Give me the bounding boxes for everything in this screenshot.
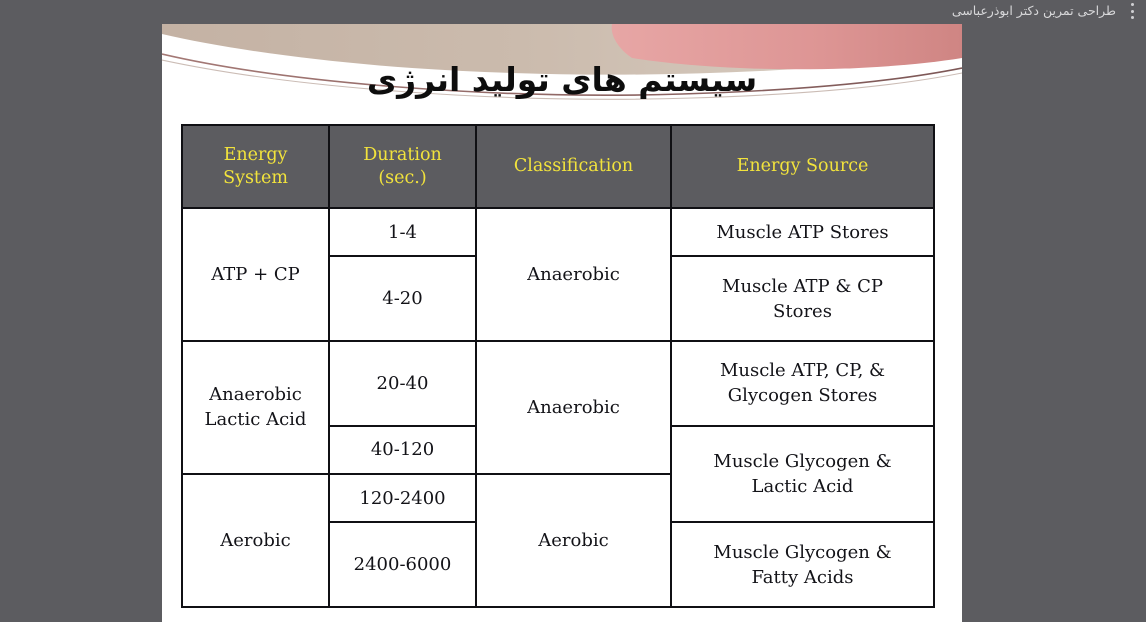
cell-line: Anaerobic xyxy=(209,384,302,405)
cell-classification-anaerobic-1: Anaerobic xyxy=(476,208,671,341)
cell-energy-system-anaerobic-lactic-acid: Anaerobic Lactic Acid xyxy=(182,341,329,474)
kebab-dot xyxy=(1131,16,1134,19)
cell-source-muscle-glycogen-lactic-acid: Muscle Glycogen & Lactic Acid xyxy=(671,426,934,522)
table-header: Energy System Duration (sec.) Classifica… xyxy=(182,125,934,208)
cell-energy-system-aerobic: Aerobic xyxy=(182,474,329,607)
cell-duration-20-40: 20-40 xyxy=(329,341,476,426)
cell-line: Glycogen Stores xyxy=(728,385,878,406)
header-line: Duration xyxy=(363,145,442,165)
cell-line: Muscle Glycogen & xyxy=(713,542,891,563)
header-line: Energy Source xyxy=(737,156,869,176)
table-body: ATP + CP 1-4 Anaerobic Muscle ATP Stores… xyxy=(182,208,934,607)
header-line: System xyxy=(223,168,288,188)
cell-line: Fatty Acids xyxy=(752,567,854,588)
kebab-dot xyxy=(1131,10,1134,13)
presentation-title-label: طراحی تمرین دکتر ابوذرعباسی xyxy=(952,2,1116,20)
header-line: (sec.) xyxy=(378,168,426,188)
header-line: Energy xyxy=(224,145,288,165)
cell-line: Muscle Glycogen & xyxy=(713,451,891,472)
slide-canvas: سیستم های تولید انرژی Energy System Dura… xyxy=(162,24,962,622)
cell-source-muscle-atp-cp-stores: Muscle ATP & CP Stores xyxy=(671,256,934,341)
column-header-classification: Classification xyxy=(476,125,671,208)
cell-energy-system-atp-cp: ATP + CP xyxy=(182,208,329,341)
cell-duration-2400-6000: 2400-6000 xyxy=(329,522,476,607)
cell-duration-40-120: 40-120 xyxy=(329,426,476,474)
cell-classification-aerobic: Aerobic xyxy=(476,474,671,607)
cell-duration-4-20: 4-20 xyxy=(329,256,476,341)
column-header-energy-source: Energy Source xyxy=(671,125,934,208)
energy-systems-table: Energy System Duration (sec.) Classifica… xyxy=(181,124,935,608)
top-bar: طراحی تمرین دکتر ابوذرعباسی xyxy=(0,0,1146,22)
energy-systems-table-wrapper: Energy System Duration (sec.) Classifica… xyxy=(181,124,933,608)
cell-line: Muscle ATP, CP, & xyxy=(720,360,885,381)
table-row: Anaerobic Lactic Acid 20-40 Anaerobic Mu… xyxy=(182,341,934,426)
column-header-energy-system: Energy System xyxy=(182,125,329,208)
table-row: ATP + CP 1-4 Anaerobic Muscle ATP Stores xyxy=(182,208,934,256)
cell-line: Lactic Acid xyxy=(205,409,307,430)
column-header-duration: Duration (sec.) xyxy=(329,125,476,208)
table-header-row: Energy System Duration (sec.) Classifica… xyxy=(182,125,934,208)
cell-line: Stores xyxy=(773,301,832,322)
cell-source-muscle-glycogen-fatty-acids: Muscle Glycogen & Fatty Acids xyxy=(671,522,934,607)
cell-source-muscle-atp-cp-glycogen-stores: Muscle ATP, CP, & Glycogen Stores xyxy=(671,341,934,426)
presentation-viewer: طراحی تمرین دکتر ابوذرعباسی xyxy=(0,0,1146,622)
kebab-dot xyxy=(1131,3,1134,6)
slide-title: سیستم های تولید انرژی xyxy=(162,58,962,102)
cell-duration-1-4: 1-4 xyxy=(329,208,476,256)
cell-source-muscle-atp-stores: Muscle ATP Stores xyxy=(671,208,934,256)
header-line: Classification xyxy=(514,156,633,176)
cell-classification-anaerobic-2: Anaerobic xyxy=(476,341,671,474)
kebab-menu-icon[interactable] xyxy=(1130,3,1134,19)
cell-line: Muscle ATP & CP xyxy=(722,276,883,297)
cell-line: Lactic Acid xyxy=(752,476,854,497)
cell-duration-120-2400: 120-2400 xyxy=(329,474,476,522)
